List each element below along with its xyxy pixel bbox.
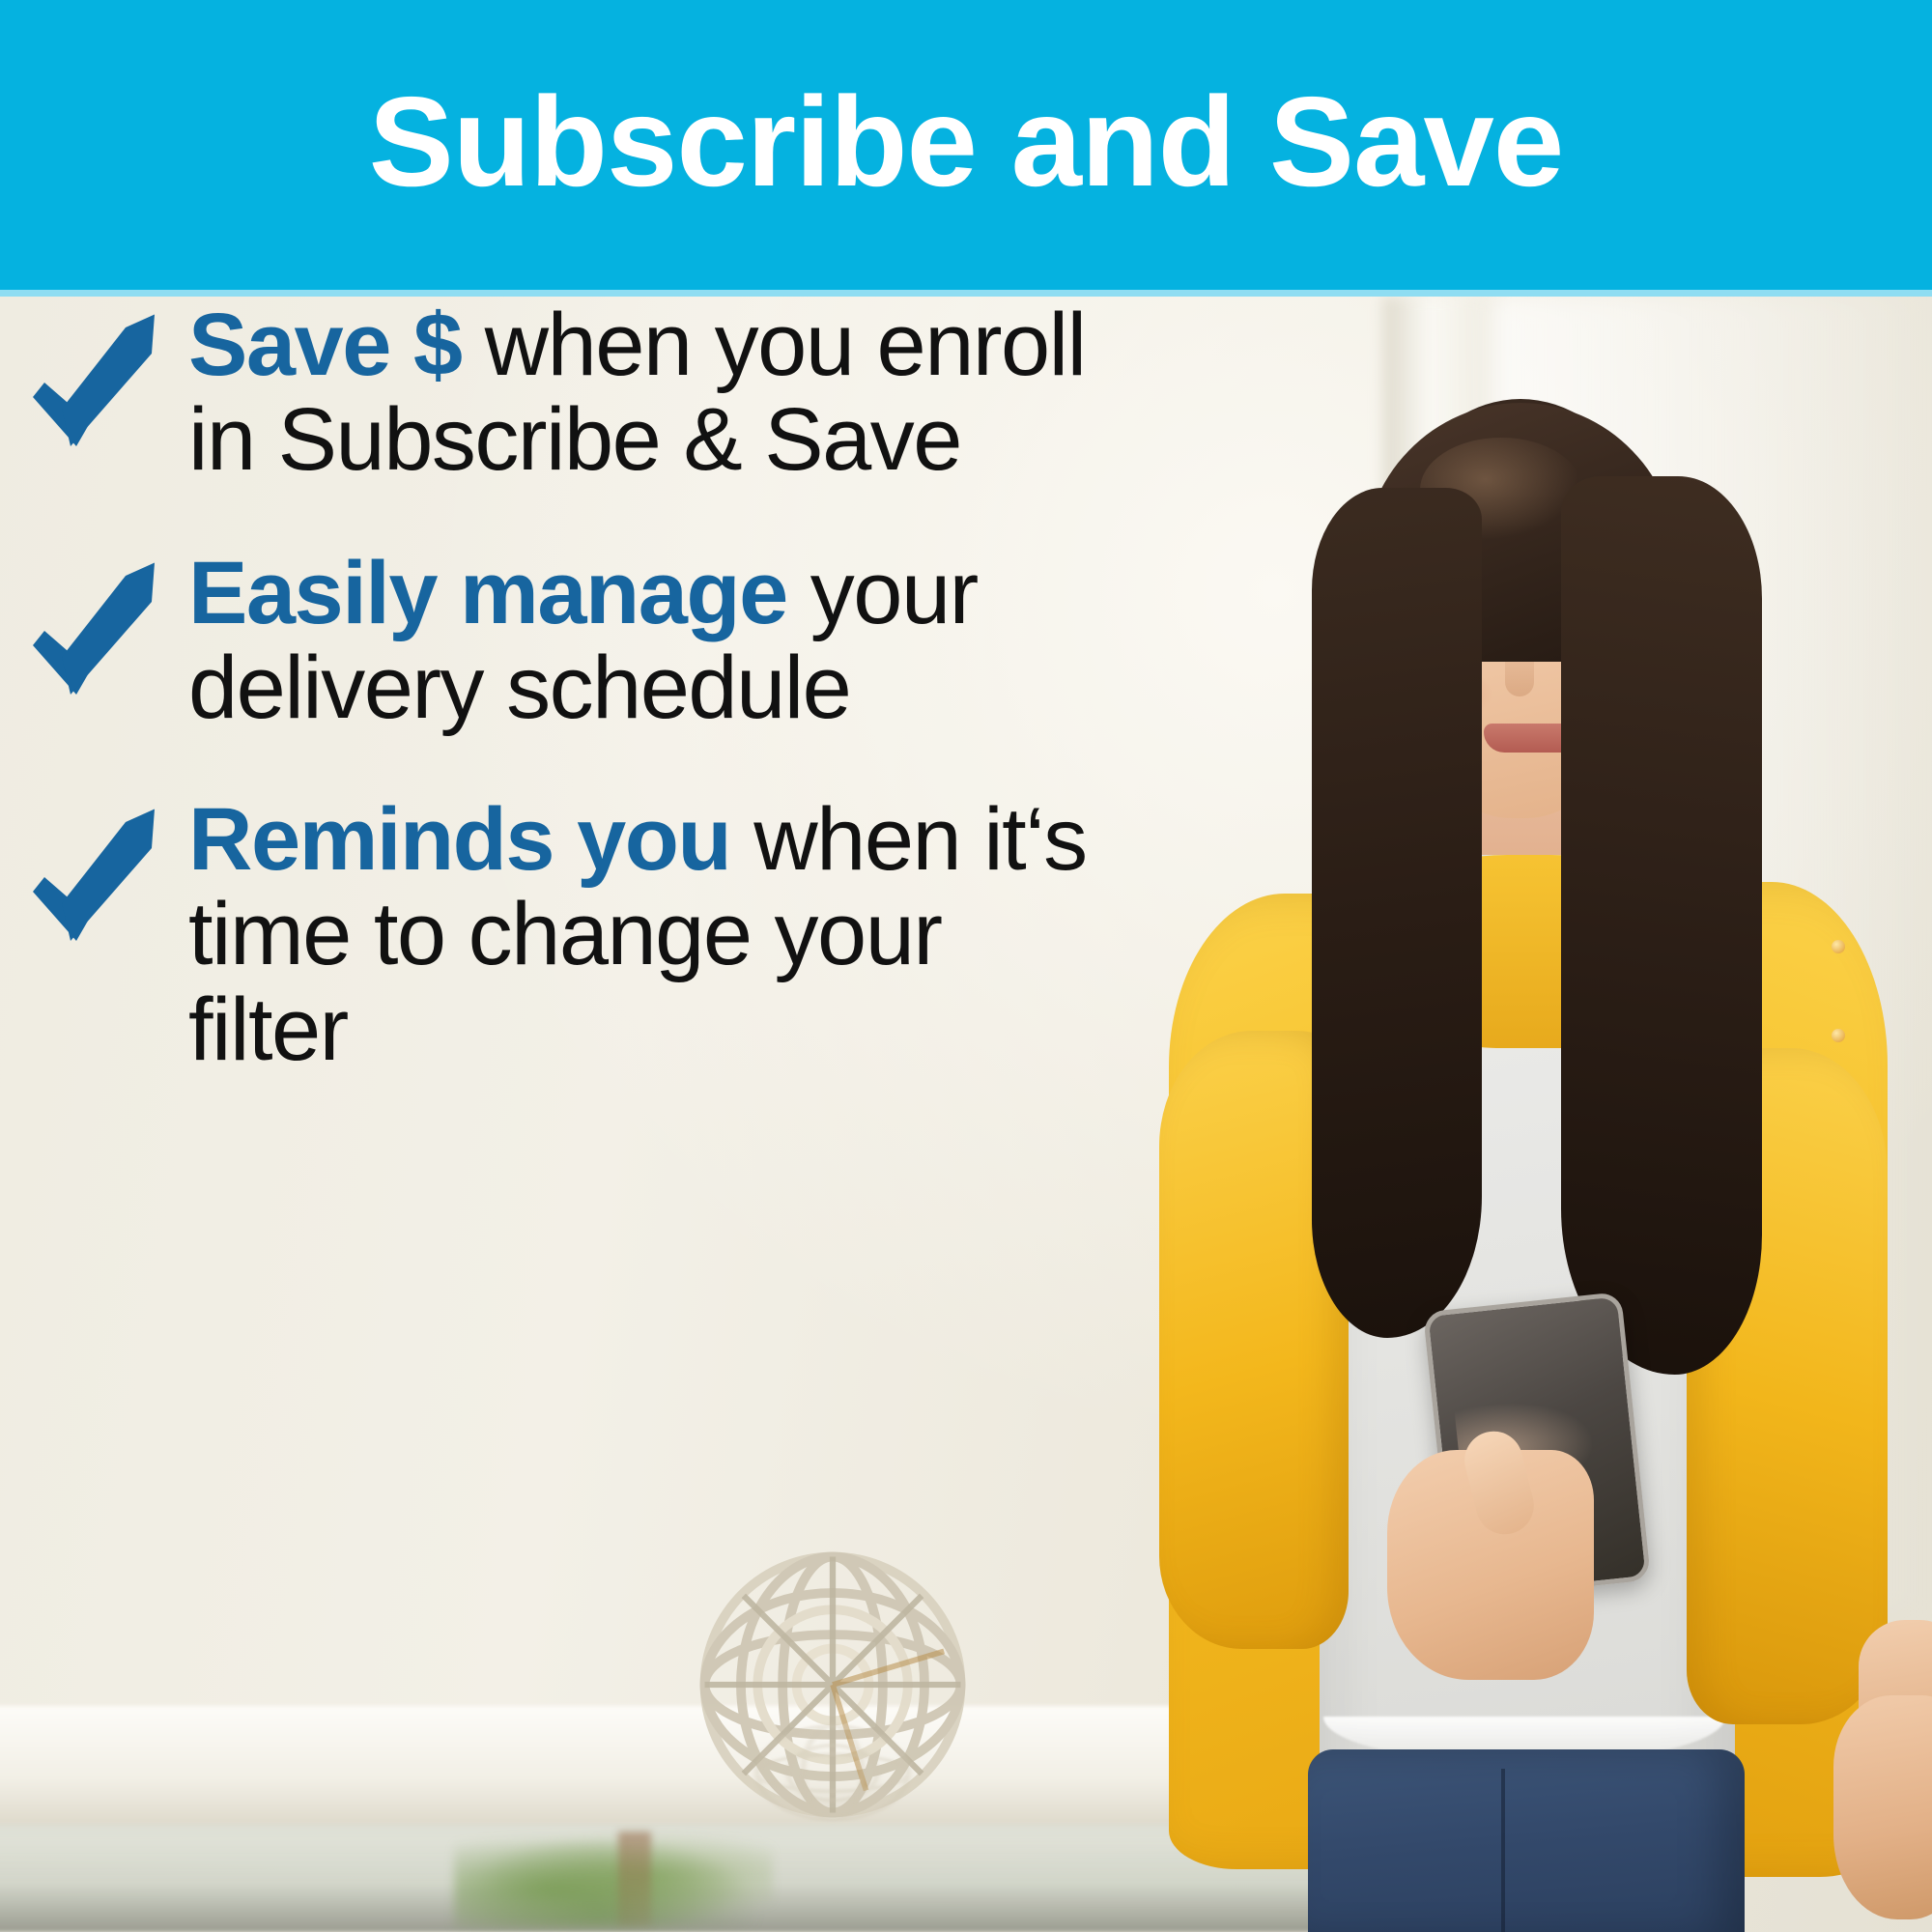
jeans-seam xyxy=(1501,1769,1505,1932)
checkmark-icon xyxy=(27,307,172,452)
table-leg xyxy=(618,1832,651,1926)
benefits-list: Save $ when you enroll in Subscribe & Sa… xyxy=(0,290,1121,1127)
benefit-text: Easily manage your delivery schedule xyxy=(188,546,1121,736)
woman-subject xyxy=(1080,314,1932,1932)
benefit-text: Save $ when you enroll in Subscribe & Sa… xyxy=(188,298,1121,488)
benefit-text: Reminds you when it‘s time to change you… xyxy=(188,792,1121,1077)
hair-left-fall xyxy=(1312,488,1482,1338)
hand-resting xyxy=(1833,1695,1932,1919)
benefit-item-reminds: Reminds you when it‘s time to change you… xyxy=(0,792,1121,1077)
header-banner: Subscribe and Save xyxy=(0,0,1932,290)
hair-right-fall xyxy=(1561,476,1762,1375)
benefit-highlight: Easily manage xyxy=(188,544,787,642)
orb-reflection xyxy=(715,1722,951,1824)
benefit-highlight: Reminds you xyxy=(188,790,730,889)
foliage xyxy=(454,1828,773,1928)
benefit-highlight: Save $ xyxy=(188,296,462,394)
blue-jeans xyxy=(1308,1749,1745,1932)
page-title: Subscribe and Save xyxy=(369,78,1564,212)
subscribe-and-save-promo: Subscribe and Save Save $ when you enrol… xyxy=(0,0,1932,1932)
checkmark-icon xyxy=(27,802,172,947)
benefit-item-save: Save $ when you enroll in Subscribe & Sa… xyxy=(0,298,1121,488)
benefit-item-manage: Easily manage your delivery schedule xyxy=(0,546,1121,736)
checkmark-icon xyxy=(27,555,172,700)
